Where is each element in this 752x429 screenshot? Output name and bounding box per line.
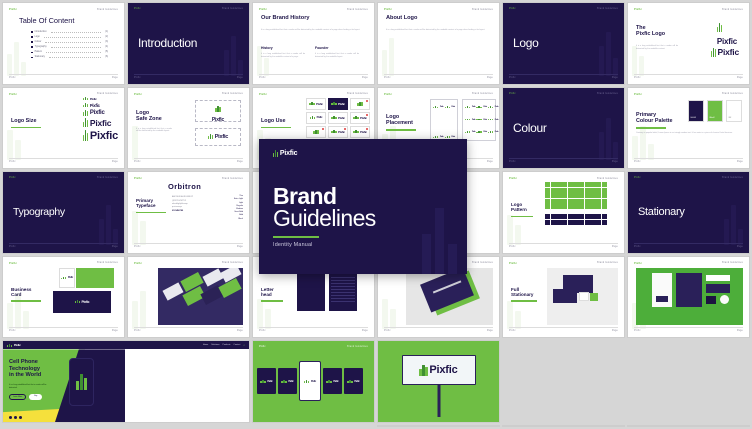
- slide-footer: PixficPage: [634, 243, 743, 248]
- slide-header: PixficBrand Guidelines: [134, 177, 243, 180]
- page-title: LogoSafe Zone: [136, 110, 162, 122]
- placement-sheet-left: Pixfic Pixfic Pixfic Pixfic: [430, 99, 458, 141]
- safezone-box-stacked: Pixfic: [195, 100, 241, 122]
- leader-dots: [49, 57, 101, 58]
- forbidden-icon: [366, 128, 368, 130]
- page-title: Logo Size: [11, 118, 41, 129]
- title-underline: [261, 127, 291, 129]
- pixfic-mark-icon: [83, 97, 88, 100]
- body-text: Contrary to popular belief, Lorem Ipsum …: [636, 132, 741, 135]
- slide-footer: PixficPage: [134, 327, 243, 332]
- page-title: Stationary: [638, 206, 685, 218]
- slide-footer: PixficPage: [634, 74, 743, 79]
- page-title: Colour: [513, 121, 547, 135]
- slide-footer: PixficPage: [9, 243, 118, 248]
- list-item[interactable]: Colour(3): [31, 41, 108, 43]
- pixfic-mark-icon: [309, 102, 314, 105]
- slide-stationary-mockup-green[interactable]: PixficBrand Guidelines PixficPage: [628, 257, 749, 338]
- status-badge[interactable]: #1e1448: [688, 100, 704, 122]
- nav-item[interactable]: Solutions: [211, 344, 219, 346]
- body-text: It is a long established fact that a rea…: [386, 29, 491, 32]
- slide-header: PixficBrand Guidelines: [259, 93, 368, 96]
- slide-footer: PixficPage: [134, 243, 243, 248]
- bullet-icon: [31, 52, 33, 54]
- list-item[interactable]: Stationary(6): [31, 56, 108, 58]
- slide-header: PixficBrand Guidelines: [634, 262, 743, 265]
- pixfic-mark-icon: [208, 134, 213, 140]
- pixfic-mark-icon: [433, 136, 438, 138]
- status-badge[interactable]: #ffffff: [726, 100, 742, 122]
- pixfic-mark-icon: [465, 131, 470, 133]
- slide-logo-safe-zone[interactable]: PixficBrand Guidelines LogoSafe Zone It …: [128, 88, 249, 169]
- website-headline: Cell Phone Technology in the World: [9, 359, 41, 378]
- pixfic-mark-icon: [83, 110, 88, 116]
- bar-watermark-icon: [257, 299, 271, 329]
- bar-watermark-icon: [507, 215, 521, 245]
- nav-item[interactable]: Products: [223, 344, 231, 346]
- billboard-panel: Pixfic: [402, 355, 476, 385]
- logo-horizontal: Pixfic: [273, 150, 297, 157]
- slide-header: PixficBrand Guidelines: [384, 8, 493, 11]
- logo-use-cell: [350, 98, 370, 110]
- pixfic-mark-icon: [83, 118, 88, 127]
- page-title: About Logo: [386, 15, 417, 21]
- pixfic-mark-icon: [331, 102, 336, 105]
- pixfic-mark-icon: [331, 116, 336, 119]
- page-title: PrimaryColour Palette: [636, 112, 673, 129]
- slide-header: PixficBrand Guidelines: [9, 8, 118, 11]
- bar-watermark-icon: [224, 36, 243, 76]
- slide-footer: PixficPage: [384, 74, 493, 79]
- slide-the-pixfic-logo[interactable]: PixficBrand Guidelines The Pixfic Logo I…: [628, 3, 749, 84]
- typeface-weights: Thin Extra Light Light Regular Medium Se…: [234, 195, 243, 221]
- folder-mockup-photo: [406, 268, 493, 326]
- slide-colour[interactable]: PixficBrand Guidelines Colour PixficPage: [503, 88, 624, 169]
- pixfic-mark-icon: [488, 119, 493, 121]
- title-underline: [11, 300, 41, 302]
- slide-typography[interactable]: PixficBrand Guidelines Typography Pixfic…: [3, 172, 124, 253]
- title-underline: [636, 127, 666, 129]
- slide-business-card-mockup[interactable]: PixficBrand Guidelines PixficPage: [128, 257, 249, 338]
- title-underline: [511, 216, 533, 218]
- app-screen: Pixfic: [323, 368, 342, 394]
- slide-header: PixficBrand Guidelines: [634, 93, 743, 96]
- pixfic-mark-icon: [465, 119, 470, 121]
- list-item[interactable]: Logo(2): [31, 36, 108, 38]
- slide-footer: PixficPage: [509, 158, 618, 163]
- page-title: The Pixfic Logo: [636, 25, 665, 37]
- bullet-icon: [31, 46, 33, 48]
- pixfic-mark-icon: [310, 116, 315, 119]
- bullet-icon: [31, 31, 33, 33]
- slide-footer: PixficPage: [634, 158, 743, 163]
- leader-dots: [45, 42, 101, 43]
- pixfic-mark-icon: [83, 103, 88, 107]
- slide-logo-pattern[interactable]: PixficBrand Guidelines LogoPattern Pixfi…: [503, 172, 624, 253]
- learn-more-button[interactable]: Learn More: [9, 394, 26, 400]
- bar-watermark-icon: [507, 301, 521, 329]
- page-title: Table Of Content: [19, 16, 74, 25]
- hero-rule: [273, 236, 319, 238]
- bar-watermark-icon: [132, 211, 146, 245]
- slide-header: PixficBrand Guidelines: [134, 93, 243, 96]
- logo-use-cell: [306, 126, 326, 138]
- slide-footer: PixficPage: [259, 327, 368, 332]
- slide-primary-typeface[interactable]: PixficBrand Guidelines Orbitron PrimaryT…: [128, 172, 249, 253]
- pixfic-mark-icon: [476, 119, 481, 121]
- page-title: Typography: [13, 206, 65, 218]
- slide-footer: PixficPage: [634, 327, 743, 332]
- hero-subtitle: Identity Manual: [273, 242, 313, 248]
- search-icon[interactable]: ⌕: [243, 343, 245, 347]
- logo-use-cell: Pixfic: [328, 112, 348, 124]
- logo-horizontal: Pixfic: [711, 47, 739, 57]
- leader-dots: [51, 32, 102, 33]
- list-item[interactable]: Introduction(1): [31, 31, 108, 33]
- leader-dots: [51, 47, 102, 48]
- forbidden-icon: [322, 128, 324, 130]
- instagram-icon[interactable]: [19, 416, 22, 419]
- slide-stationary[interactable]: PixficBrand Guidelines Stationary Pixfic…: [628, 172, 749, 253]
- slide-footer: PixficPage: [509, 74, 618, 79]
- slide-header: PixficBrand Guidelines: [509, 8, 618, 10]
- title-underline: [261, 300, 283, 302]
- typeface-samples: ABCDEFGHIJKLMNOP QRSTUVWXYZ abcdefghijkl…: [172, 196, 193, 213]
- hero-title-line-2: Guidelines: [273, 207, 376, 230]
- slide-about-logo[interactable]: PixficBrand Guidelines About Logo It is …: [378, 3, 499, 84]
- logo-use-cell: Pixfic: [306, 112, 326, 124]
- leader-dots: [46, 52, 101, 53]
- page-title: PrimaryTypeface: [136, 198, 166, 213]
- subheading: Founder: [315, 46, 329, 50]
- slide-header: PixficBrand Guidelines: [634, 177, 743, 179]
- slide-footer: PixficPage: [9, 158, 118, 163]
- pixfic-mark-icon: [711, 48, 716, 57]
- pixfic-mark-icon: [717, 23, 722, 32]
- billboard-post: [437, 385, 440, 417]
- title-underline: [136, 212, 166, 214]
- column-1-text: It is a long established fact that a rea…: [261, 53, 305, 58]
- slide-header: PixficBrand Guidelines: [509, 177, 618, 180]
- slide-footer: PixficPage: [9, 74, 118, 79]
- pixfic-mark-icon: [488, 106, 493, 108]
- slide-website-mockup[interactable]: Pixfic Home Solutions Products Contact ⌕…: [3, 341, 249, 422]
- slide-footer: PixficPage: [259, 74, 368, 79]
- page-title: FullStationary: [511, 287, 537, 302]
- app-screen: Pixfic: [278, 368, 297, 394]
- slide-footer: PixficPage: [9, 327, 118, 332]
- stationary-green-photo: [636, 268, 743, 326]
- pixfic-mark-icon: [476, 131, 481, 133]
- placement-sheet-right: Pixfic Pixfic Pixfic Pixfic Pixfic Pixfi…: [462, 99, 496, 141]
- pattern-green: [545, 182, 607, 212]
- bullet-icon: [31, 41, 33, 43]
- pixfic-mark-icon: [75, 300, 80, 303]
- pixfic-mark-icon: [326, 380, 331, 383]
- slide-table-of-content[interactable]: PixficBrand Guidelines Table Of Content …: [3, 3, 124, 84]
- pixfic-mark-icon: [445, 136, 450, 138]
- facebook-icon[interactable]: [9, 416, 12, 419]
- bullet-icon: [31, 36, 33, 38]
- pixfic-mark-icon: [357, 102, 362, 106]
- business-card-back: Pixfic: [53, 291, 111, 313]
- pixfic-mark-icon: [7, 344, 12, 347]
- nav-item[interactable]: Home: [203, 344, 208, 346]
- pixfic-mark-icon: [488, 131, 493, 133]
- title-underline: [11, 127, 41, 129]
- slide-logo[interactable]: PixficBrand Guidelines Logo PixficPage: [503, 3, 624, 84]
- logo-stacked: Pixfic: [717, 19, 737, 46]
- body-text: It is a long established fact that a rea…: [136, 128, 172, 133]
- bar-watermark-icon: [724, 205, 743, 245]
- pixfic-mark-icon: [465, 106, 470, 108]
- pixfic-mark-icon: [260, 380, 265, 383]
- phone-mockup: [69, 358, 94, 406]
- logo-use-cell: Pixfic: [328, 126, 348, 138]
- logo-use-cell: Pixfic: [328, 98, 348, 110]
- page-title: Letterhead: [261, 287, 283, 302]
- slide-introduction[interactable]: PixficBrand Guidelines Introduction Pixf…: [128, 3, 249, 84]
- app-screens-row: Pixfic Pixfic Pixfic Pixfic Pixfic: [257, 361, 370, 401]
- bar-watermark-icon: [382, 38, 394, 76]
- slide-header: PixficBrand Guidelines: [634, 8, 743, 11]
- intro-text: It is a long established fact that a rea…: [261, 29, 366, 32]
- leader-dots: [44, 37, 101, 38]
- slide-footer: PixficPage: [134, 158, 243, 163]
- bar-watermark-icon: [7, 42, 26, 76]
- bar-watermark-icon: [7, 130, 21, 160]
- toc-list: Introduction(1) Logo(2) Colour(3) Typogr…: [31, 31, 108, 62]
- page-title: BusinessCard: [11, 287, 41, 302]
- bar-watermark-icon: [599, 118, 618, 160]
- slide-business-card[interactable]: PixficBrand Guidelines BusinessCard Pixf…: [3, 257, 124, 338]
- twitter-icon[interactable]: [14, 416, 17, 419]
- page-title: Introduction: [138, 36, 197, 50]
- colour-swatches: #1e1448 #6fbe44 #ffffff: [688, 100, 742, 122]
- slide-header: PixficBrand Guidelines: [509, 93, 618, 95]
- page-title: LogoPattern: [511, 202, 533, 217]
- buy-button[interactable]: Buy: [29, 394, 42, 400]
- bar-watermark-icon: [422, 204, 457, 274]
- logo-size-scale: Pixfic Pixfic Pixfic Pixfic Pixfic: [83, 97, 118, 142]
- pixfic-mark-icon: [76, 374, 87, 390]
- title-underline: [386, 129, 416, 131]
- pixfic-mark-icon: [61, 277, 66, 279]
- forbidden-icon: [366, 100, 368, 102]
- slide-header: PixficBrand Guidelines: [9, 262, 118, 265]
- logo-use-cell: Pixfic: [350, 112, 370, 124]
- typeface-name: Orbitron: [168, 182, 201, 191]
- list-item[interactable]: Pattern(5): [31, 51, 108, 53]
- bar-watermark-icon: [382, 299, 396, 329]
- safezone-box-horizontal: Pixfic: [195, 128, 241, 146]
- slide-billboard-mockup[interactable]: Pixfic: [378, 341, 499, 422]
- featured-slide-brand-guidelines[interactable]: Pixfic Brand Guidelines Identity Manual: [259, 139, 467, 274]
- slide-primary-colour-palette[interactable]: PixficBrand Guidelines PrimaryColour Pal…: [628, 88, 749, 169]
- pixfic-mark-icon: [281, 380, 286, 383]
- pixfic-mark-icon: [353, 130, 358, 133]
- bar-watermark-icon: [599, 32, 618, 76]
- app-screen: Pixfic: [257, 368, 276, 394]
- app-screen-featured: Pixfic: [299, 361, 321, 401]
- pixfic-mark-icon: [313, 130, 318, 134]
- slide-header: PixficBrand Guidelines: [384, 93, 493, 96]
- slide-header: PixficBrand Guidelines: [9, 177, 118, 179]
- pixfic-mark-icon: [433, 106, 438, 108]
- slide-footer: PixficPage: [134, 74, 243, 79]
- website-body: It is a long established fact that a rea…: [9, 384, 53, 389]
- page-title: Logo Use: [261, 118, 291, 129]
- slide-header: PixficBrand Guidelines: [134, 262, 243, 265]
- logo-use-grid: Pixfic Pixfic Pixfic Pixfic Pixfic Pixfi…: [306, 98, 370, 138]
- slide-header: PixficBrand Guidelines: [9, 93, 118, 96]
- pixfic-mark-icon: [419, 365, 427, 376]
- slide-header: PixficBrand Guidelines: [259, 346, 368, 348]
- pixfic-mark-icon: [347, 380, 352, 383]
- app-screen: Pixfic: [344, 368, 363, 394]
- slide-app-screens-mockup[interactable]: PixficBrand Guidelines Pixfic Pixfic Pix…: [253, 341, 374, 422]
- slide-footer: PixficPage: [384, 327, 493, 332]
- status-badge[interactable]: #6fbe44: [707, 100, 723, 122]
- slide-logo-size[interactable]: PixficBrand Guidelines Logo Size Pixfic …: [3, 88, 124, 169]
- logo-use-cell: Pixfic: [306, 98, 326, 110]
- slide-full-stationary[interactable]: PixficBrand Guidelines FullStationary Pi…: [503, 257, 624, 338]
- pixfic-mark-icon: [331, 130, 336, 133]
- website-cta-group: Learn More Buy: [9, 394, 42, 400]
- social-icons[interactable]: [9, 416, 22, 419]
- forbidden-icon: [344, 128, 346, 130]
- title-underline: [511, 300, 537, 302]
- website-navbar[interactable]: Pixfic Home Solutions Products Contact ⌕: [3, 341, 249, 349]
- pixfic-mark-icon: [445, 106, 450, 108]
- page-title: Our Brand History: [261, 15, 310, 21]
- slide-header: PixficBrand Guidelines: [259, 8, 368, 11]
- full-stationary-photo: [547, 268, 618, 326]
- slide-header: PixficBrand Guidelines: [509, 262, 618, 265]
- pixfic-mark-icon: [476, 106, 481, 108]
- page-title: Logo: [513, 36, 539, 50]
- pixfic-mark-icon: [83, 130, 88, 141]
- slide-our-brand-history[interactable]: PixficBrand Guidelines Our Brand History…: [253, 3, 374, 84]
- pattern-navy: [545, 214, 607, 225]
- slide-footer: PixficPage: [509, 243, 618, 248]
- bullet-icon: [31, 57, 33, 59]
- business-card-front: Pixfic: [59, 268, 114, 288]
- subheading: History: [261, 46, 273, 50]
- card-mockup-photo: [158, 268, 243, 326]
- column-2-text: It is a long established fact that a rea…: [315, 53, 359, 58]
- pixfic-mark-icon: [273, 150, 278, 157]
- list-item[interactable]: Typography(4): [31, 46, 108, 48]
- page-title: LogoPlacement: [386, 114, 416, 131]
- body-text: It is a long established fact that a rea…: [636, 45, 678, 50]
- forbidden-icon: [366, 114, 368, 116]
- bar-watermark-icon: [132, 291, 146, 329]
- bar-watermark-icon: [99, 205, 118, 245]
- pixfic-mark-icon: [304, 380, 309, 383]
- slide-footer: PixficPage: [509, 327, 618, 332]
- slide-header: PixficBrand Guidelines: [134, 8, 243, 10]
- pixfic-mark-icon: [353, 116, 358, 119]
- pixfic-mark-icon: [215, 106, 220, 112]
- logo-use-cell: Pixfic: [350, 126, 370, 138]
- bar-watermark-icon: [257, 46, 269, 76]
- nav-item[interactable]: Contact: [233, 344, 240, 346]
